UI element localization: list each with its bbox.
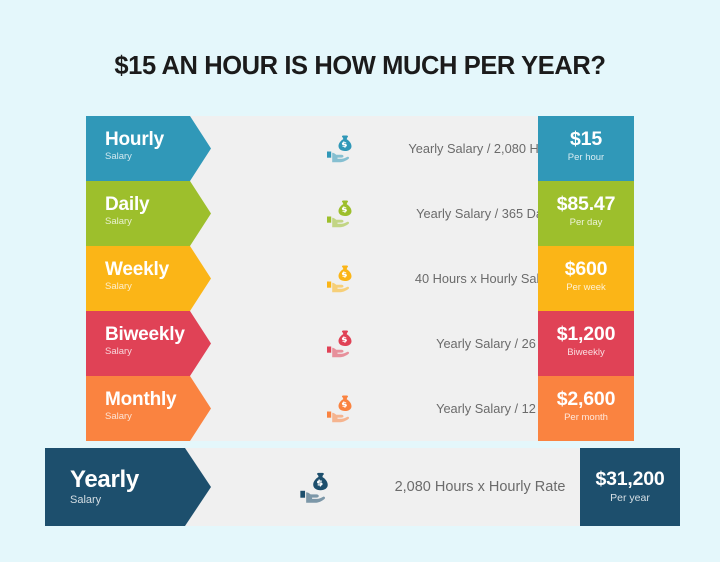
salary-row-biweekly: Biweekly Salary Yearly Salary / 26 $1,20…: [86, 311, 634, 376]
row-amount: $1,200: [538, 323, 634, 346]
row-label-yearly: Yearly Salary: [45, 448, 211, 526]
row-amount: $31,200: [580, 468, 680, 491]
row-subtitle: Salary: [105, 345, 211, 358]
row-amount: $2,600: [538, 388, 634, 411]
row-value-daily: $85.47 Per day: [538, 181, 634, 246]
row-value-yearly: $31,200 Per year: [580, 448, 680, 526]
row-term: Biweekly: [105, 324, 211, 345]
row-term: Yearly: [70, 466, 211, 493]
page-title: $15 AN HOUR IS HOW MUCH PER YEAR?: [0, 52, 720, 81]
row-amount: $15: [538, 128, 634, 151]
row-amount: $85.47: [538, 193, 634, 216]
row-term: Weekly: [105, 259, 211, 280]
row-value-hourly: $15 Per hour: [538, 116, 634, 181]
row-amount: $600: [538, 258, 634, 281]
salary-row-weekly: Weekly Salary 40 Hours x Hourly Salary $…: [86, 246, 634, 311]
row-subtitle: Salary: [105, 215, 211, 228]
salary-row-monthly: Monthly Salary Yearly Salary / 12 $2,600…: [86, 376, 634, 441]
row-label-monthly: Monthly Salary: [86, 376, 211, 441]
row-label-biweekly: Biweekly Salary: [86, 311, 211, 376]
row-period: Per year: [580, 491, 680, 505]
row-period: Per hour: [538, 151, 634, 164]
row-subtitle: Salary: [105, 280, 211, 293]
salary-row-hourly: Hourly Salary Yearly Salary / 2,080 Hour…: [86, 116, 634, 181]
row-period: Per day: [538, 216, 634, 229]
salary-breakdown-panel: Hourly Salary Yearly Salary / 2,080 Hour…: [86, 116, 634, 441]
row-label-weekly: Weekly Salary: [86, 246, 211, 311]
row-period: Per month: [538, 411, 634, 424]
row-value-biweekly: $1,200 Biweekly: [538, 311, 634, 376]
salary-row-yearly: Yearly Salary 2,080 Hours x Hourly Rate …: [45, 448, 680, 526]
row-value-monthly: $2,600 Per month: [538, 376, 634, 441]
row-label-hourly: Hourly Salary: [86, 116, 211, 181]
row-term: Monthly: [105, 389, 211, 410]
row-term: Hourly: [105, 129, 211, 150]
row-term: Daily: [105, 194, 211, 215]
row-value-weekly: $600 Per week: [538, 246, 634, 311]
row-subtitle: Salary: [105, 410, 211, 423]
row-subtitle: Salary: [105, 150, 211, 163]
salary-row-daily: Daily Salary Yearly Salary / 365 Days $8…: [86, 181, 634, 246]
row-period: Per week: [538, 281, 634, 294]
row-period: Biweekly: [538, 346, 634, 359]
row-label-daily: Daily Salary: [86, 181, 211, 246]
row-subtitle: Salary: [70, 493, 211, 508]
